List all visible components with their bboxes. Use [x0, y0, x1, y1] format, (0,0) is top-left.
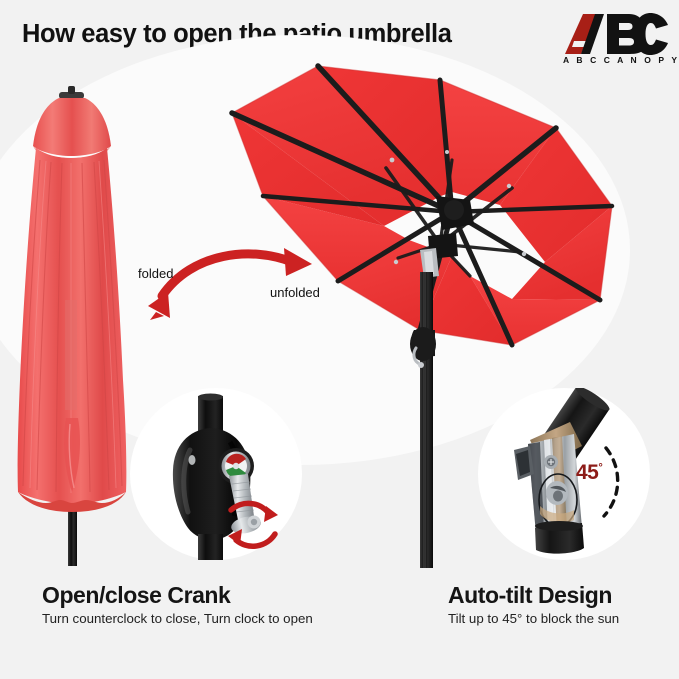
- crank-mechanism-illustration: [130, 388, 302, 560]
- tilt-arc-icon: [604, 448, 618, 516]
- label-unfolded: unfolded: [270, 285, 320, 300]
- feature-heading-tilt: Auto-tilt Design: [448, 583, 619, 607]
- feature-caption-crank: Open/close Crank Turn counterclock to cl…: [42, 583, 313, 627]
- tilt-detail-circle: [478, 388, 650, 560]
- label-folded: folded: [138, 266, 173, 281]
- feature-subtext-tilt: Tilt up to 45° to block the sun: [448, 612, 619, 627]
- tilt-angle-unit: °: [598, 462, 602, 474]
- product-illustration: [0, 0, 679, 679]
- tilt-angle-label: 45°: [576, 461, 602, 485]
- feature-caption-tilt: Auto-tilt Design Tilt up to 45° to block…: [448, 583, 619, 627]
- crank-detail-circle: [130, 388, 302, 560]
- tilt-mechanism-illustration: [478, 388, 650, 560]
- feature-subtext-crank: Turn counterclock to close, Turn clock t…: [42, 612, 313, 627]
- infographic-canvas: How easy to open the patio umbrella A B …: [0, 0, 679, 679]
- feature-heading-crank: Open/close Crank: [42, 583, 313, 607]
- tilt-angle-value: 45: [576, 461, 598, 484]
